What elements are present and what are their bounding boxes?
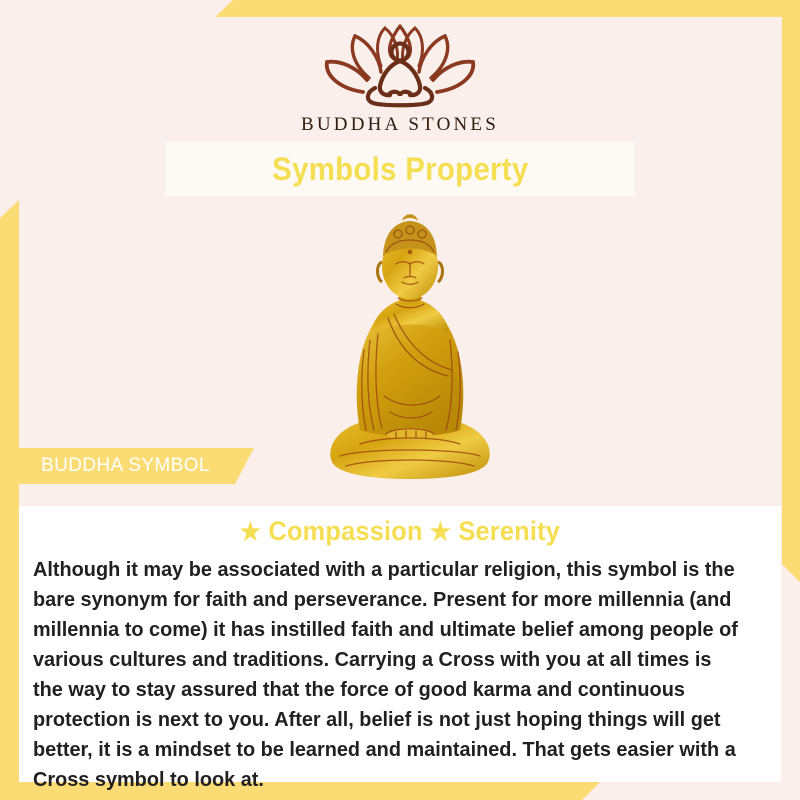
brand-header: BUDDHA STONES bbox=[0, 22, 800, 136]
page-title: Symbols Property bbox=[272, 151, 528, 188]
subtitle-word-compassion: Compassion bbox=[268, 516, 422, 546]
section-ribbon: BUDDHA SYMBOL bbox=[19, 448, 254, 484]
lotus-meditation-icon bbox=[315, 22, 485, 108]
subtitle-word-serenity: Serenity bbox=[458, 516, 560, 546]
content-panel: ★ Compassion ★ Serenity Although it may … bbox=[19, 506, 781, 782]
poster-canvas: BUDDHA STONES Symbols Property bbox=[0, 0, 800, 800]
brand-wordmark: BUDDHA STONES bbox=[0, 114, 800, 136]
content-subtitle: ★ Compassion ★ Serenity bbox=[42, 516, 758, 547]
decor-band-top bbox=[215, 0, 800, 17]
content-paragraph: Although it may be associated with a par… bbox=[33, 555, 745, 795]
title-banner: Symbols Property bbox=[165, 142, 635, 196]
star-icon-two: ★ bbox=[430, 518, 451, 546]
decor-band-left bbox=[0, 200, 19, 790]
star-icon-one: ★ bbox=[240, 518, 261, 546]
section-ribbon-label: BUDDHA SYMBOL bbox=[19, 455, 210, 477]
seated-buddha-statue-icon bbox=[320, 200, 500, 490]
